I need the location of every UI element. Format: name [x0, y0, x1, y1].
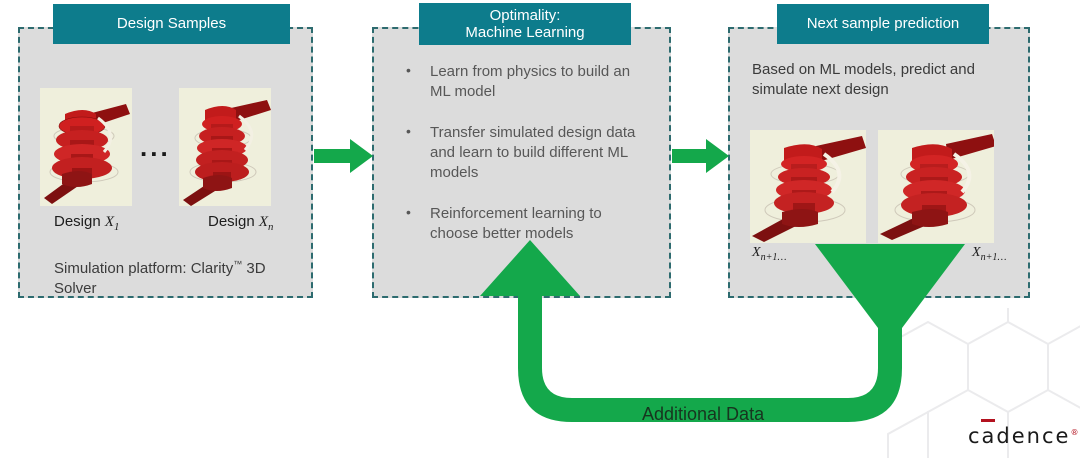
panel-header-label: Design Samples	[117, 15, 226, 32]
design-sample-caption-n: Design Xn	[208, 213, 273, 233]
3d-via-model-thumbnail	[750, 130, 866, 243]
caption-prefix: Design	[208, 213, 259, 230]
caption-subscript: n+1…	[981, 252, 1007, 263]
caption-subscript: 1	[114, 221, 119, 233]
logo-text-part2: a	[982, 424, 997, 448]
panel-header-label-line2: Machine Learning	[465, 24, 584, 41]
trademark-symbol: ™	[233, 259, 242, 269]
list-item: Transfer simulated design data and learn…	[400, 123, 648, 183]
panel-header-label-line1: Optimality:	[465, 7, 584, 24]
right-arrow-icon	[314, 136, 374, 176]
logo-text-part3: dence	[996, 424, 1070, 448]
prediction-description: Based on ML models, predict and simulate…	[752, 60, 1017, 101]
panel-header-design-samples: Design Samples	[53, 4, 290, 44]
footnote-text: Simulation platform: Clarity	[54, 260, 233, 277]
caption-subscript: n	[268, 221, 273, 233]
prediction-thumbnails	[750, 130, 994, 243]
3d-via-model-thumbnail	[40, 88, 132, 206]
logo-text-part1: c	[968, 424, 982, 448]
3d-via-model-thumbnail	[878, 130, 994, 243]
registered-mark: ®	[1070, 428, 1078, 437]
list-item: Learn from physics to build an ML model	[400, 62, 648, 102]
panel-header-optimality: Optimality: Machine Learning	[419, 3, 631, 45]
ml-capability-list: Learn from physics to build an ML model …	[400, 62, 648, 265]
feedback-loop-label: Additional Data	[642, 404, 764, 425]
3d-via-model-thumbnail	[179, 88, 271, 206]
list-item: Reinforcement learning to choose better …	[400, 204, 648, 244]
panel-header-next-sample-prediction: Next sample prediction	[777, 4, 989, 44]
design-sample-caption-1: Design X1	[54, 213, 119, 233]
right-arrow-icon	[672, 136, 730, 176]
design-sample-thumbnails: ...	[40, 88, 271, 206]
caption-prefix: Design	[54, 213, 105, 230]
feedback-loop-arrow-icon	[440, 240, 980, 458]
caption-variable: X	[105, 214, 114, 230]
panel-header-label: Next sample prediction	[807, 15, 960, 32]
caption-variable: X	[259, 214, 268, 230]
ellipsis-separator: ...	[132, 134, 179, 160]
simulation-platform-note: Simulation platform: Clarity™ 3D Solver	[54, 258, 294, 300]
cadence-logo: cadence®	[968, 424, 1078, 448]
diagram-canvas: Design Samples	[0, 0, 1080, 458]
